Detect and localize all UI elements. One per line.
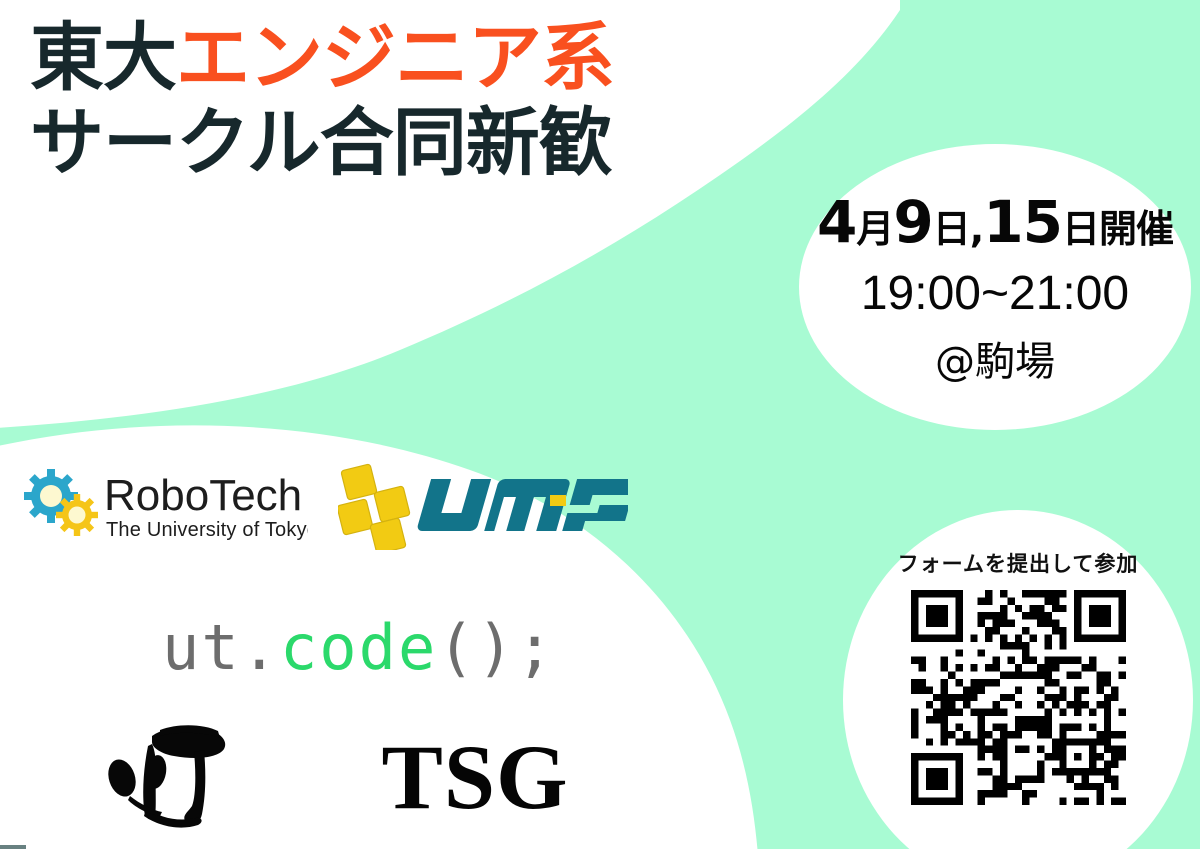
robotech-logo-svg: RoboTech The University of Tokyo [18,458,308,550]
event-day2-number: 15 [983,188,1062,256]
umf-wordmark [416,479,628,531]
utcode-suffix: (); [437,611,555,684]
event-date-separator: , [970,207,983,251]
title-line-2: サークル合同新歓 [30,107,730,180]
page-title: 東大エンジニア系 サークル合同新歓 [30,22,730,179]
qr-section: フォームを提出して参加 [873,548,1163,828]
utcode-accent: code [280,611,437,684]
logo-utcode: U T . C ut.code(); [148,600,548,695]
umf-logo-svg [338,455,628,550]
title-part-engineer: エンジニア系 [176,15,614,101]
poster-canvas: 東大エンジニア系 サークル合同新歓 4月9日,15日開催 19:00~21:00… [0,0,1200,849]
gear-icon [24,469,98,536]
event-date: 4月9日,15日開催 [817,188,1173,256]
tsg-wordmark: TSG [381,731,568,823]
event-month-number: 4 [817,188,856,256]
event-info-circle: 4月9日,15日開催 19:00~21:00 @駒場 [800,150,1190,424]
robotech-tagline: The University of Tokyo [106,519,308,541]
logo-brush-kanji [100,722,250,832]
title-line-1: 東大エンジニア系 [30,22,730,95]
event-date-suffix: 開催 [1099,198,1173,253]
logo-tsg: TSG [360,722,590,832]
qr-caption: フォームを提出して参加 [898,548,1139,578]
umf-yellow-accent [550,495,566,506]
bottom-edge-accent [0,845,26,849]
robotech-wordmark: RoboTech [104,471,302,520]
qr-code[interactable] [911,590,1126,805]
event-month-unit: 月 [856,198,893,253]
logo-umf [338,455,628,550]
utcode-wordmark: ut.code(); [162,617,555,679]
event-time: 19:00~21:00 [861,266,1129,321]
logo-robotech: RoboTech The University of Tokyo [18,458,308,550]
event-day1-unit: 日 [933,198,970,253]
event-place: @駒場 [935,329,1055,387]
title-part-todai: 東大 [30,15,176,101]
utcode-prefix: ut. [162,611,280,684]
event-day2-unit: 日 [1062,198,1099,253]
event-day1-number: 9 [893,188,932,256]
squares-icon [338,464,410,550]
brush-kanji-icon [100,722,250,832]
